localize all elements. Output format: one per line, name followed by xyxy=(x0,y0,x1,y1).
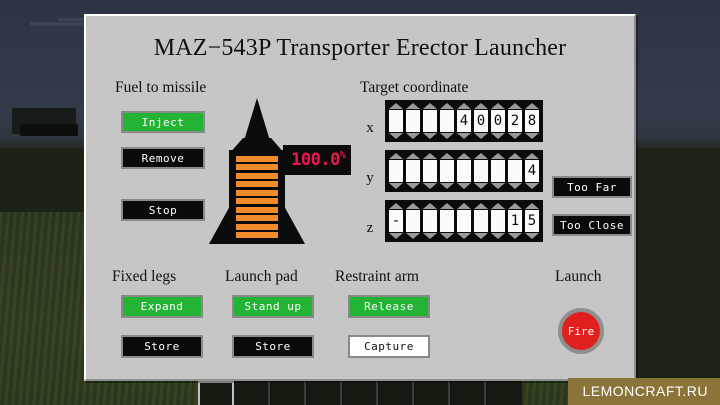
triangle-up-icon[interactable] xyxy=(525,203,539,209)
triangle-up-icon[interactable] xyxy=(423,103,437,109)
digit-value[interactable] xyxy=(491,160,505,182)
digit-cell-x-5[interactable]: 0 xyxy=(473,103,489,139)
triangle-down-icon[interactable] xyxy=(474,183,488,189)
pad-store-button[interactable]: Store xyxy=(232,335,314,358)
triangle-down-icon[interactable] xyxy=(525,133,539,139)
triangle-down-icon[interactable] xyxy=(474,233,488,239)
triangle-down-icon[interactable] xyxy=(457,183,471,189)
digit-cell-z-2[interactable] xyxy=(422,203,438,239)
digit-value[interactable]: 5 xyxy=(525,210,539,232)
digit-value[interactable] xyxy=(389,110,403,132)
triangle-down-icon[interactable] xyxy=(389,183,403,189)
hotbar-slot[interactable] xyxy=(342,381,378,405)
section-label-restraint-arm: Restraint arm xyxy=(335,268,419,286)
coordinate-row-y[interactable]: 4 xyxy=(385,150,543,192)
watermark: LEMONCRAFT.RU xyxy=(568,378,720,405)
triangle-down-icon[interactable] xyxy=(406,183,420,189)
triangle-down-icon[interactable] xyxy=(389,133,403,139)
digit-value[interactable] xyxy=(440,160,454,182)
triangle-up-icon[interactable] xyxy=(508,153,522,159)
fuel-percent-display: 100.0 % xyxy=(283,145,351,175)
digit-value[interactable]: 2 xyxy=(508,110,522,132)
digit-value[interactable]: 1 xyxy=(508,210,522,232)
triangle-down-icon[interactable] xyxy=(491,133,505,139)
hotbar-slot[interactable] xyxy=(486,381,522,405)
digit-value[interactable] xyxy=(457,160,471,182)
hotbar-slot[interactable] xyxy=(270,381,306,405)
digit-cell-z-5[interactable] xyxy=(473,203,489,239)
digit-value[interactable] xyxy=(423,210,437,232)
terrain-structure-shadow xyxy=(20,124,78,136)
arm-capture-button[interactable]: Capture xyxy=(348,335,430,358)
triangle-up-icon[interactable] xyxy=(491,203,505,209)
hotbar-slot[interactable] xyxy=(450,381,486,405)
missile-nose-cone xyxy=(243,98,271,144)
digit-value[interactable] xyxy=(423,110,437,132)
fuel-bar-segment xyxy=(236,198,278,204)
digit-cell-y-3[interactable] xyxy=(439,153,455,189)
digit-value[interactable] xyxy=(389,160,403,182)
fuel-percent-value: 100.0 xyxy=(291,152,340,169)
triangle-up-icon[interactable] xyxy=(474,203,488,209)
triangle-up-icon[interactable] xyxy=(389,103,403,109)
hotbar-slot[interactable] xyxy=(198,381,234,405)
triangle-up-icon[interactable] xyxy=(440,153,454,159)
triangle-down-icon[interactable] xyxy=(474,133,488,139)
fire-button[interactable]: Fire xyxy=(558,308,604,354)
digit-cell-y-5[interactable] xyxy=(473,153,489,189)
hotbar-slot[interactable] xyxy=(234,381,270,405)
triangle-up-icon[interactable] xyxy=(457,103,471,109)
digit-cell-z-3[interactable] xyxy=(439,203,455,239)
inject-fuel-button[interactable]: Inject xyxy=(121,111,205,133)
digit-value[interactable] xyxy=(474,160,488,182)
fuel-bar-segment xyxy=(236,224,278,230)
axis-label-y: y xyxy=(363,170,377,187)
digit-cell-z-8[interactable]: 5 xyxy=(524,203,540,239)
coordinate-row-z[interactable]: -15 xyxy=(385,200,543,242)
fuel-level-gauge xyxy=(236,156,278,238)
triangle-up-icon[interactable] xyxy=(474,153,488,159)
triangle-down-icon[interactable] xyxy=(491,183,505,189)
triangle-up-icon[interactable] xyxy=(491,103,505,109)
too-close-button[interactable]: Too Close xyxy=(552,214,632,236)
fuel-bar-segment xyxy=(236,207,278,213)
digit-value[interactable] xyxy=(406,160,420,182)
digit-cell-x-0[interactable] xyxy=(388,103,404,139)
triangle-up-icon[interactable] xyxy=(423,203,437,209)
hotbar-slot[interactable] xyxy=(378,381,414,405)
hotbar-slot[interactable] xyxy=(306,381,342,405)
axis-label-x: x xyxy=(363,120,377,137)
terrain-right xyxy=(630,150,720,405)
digit-cell-x-8[interactable]: 8 xyxy=(524,103,540,139)
triangle-down-icon[interactable] xyxy=(508,183,522,189)
digit-cell-x-4[interactable]: 4 xyxy=(456,103,472,139)
digit-cell-y-0[interactable] xyxy=(388,153,404,189)
triangle-up-icon[interactable] xyxy=(525,153,539,159)
triangle-up-icon[interactable] xyxy=(457,203,471,209)
digit-cell-z-1[interactable] xyxy=(405,203,421,239)
triangle-up-icon[interactable] xyxy=(440,203,454,209)
fuel-bar-segment xyxy=(236,164,278,170)
remove-fuel-button[interactable]: Remove xyxy=(121,147,205,169)
digit-value[interactable] xyxy=(457,210,471,232)
triangle-up-icon[interactable] xyxy=(406,153,420,159)
triangle-down-icon[interactable] xyxy=(491,233,505,239)
digit-cell-x-6[interactable]: 0 xyxy=(490,103,506,139)
triangle-down-icon[interactable] xyxy=(525,233,539,239)
digit-value[interactable]: 4 xyxy=(457,110,471,132)
digit-cell-y-4[interactable] xyxy=(456,153,472,189)
digit-value[interactable] xyxy=(406,110,420,132)
digit-cell-z-0[interactable]: - xyxy=(388,203,404,239)
triangle-up-icon[interactable] xyxy=(406,203,420,209)
digit-cell-z-7[interactable]: 1 xyxy=(507,203,523,239)
page-title: MAZ−543P Transporter Erector Launcher xyxy=(86,35,634,62)
digit-value[interactable] xyxy=(440,210,454,232)
fuel-bar-segment xyxy=(236,156,278,162)
section-label-launch-pad: Launch pad xyxy=(225,268,298,286)
digit-value[interactable] xyxy=(474,210,488,232)
hotbar-slot[interactable] xyxy=(414,381,450,405)
digit-cell-y-8[interactable]: 4 xyxy=(524,153,540,189)
section-label-fixed-legs: Fixed legs xyxy=(112,268,176,286)
fuel-bar-segment xyxy=(236,215,278,221)
section-label-target: Target coordinate xyxy=(360,79,468,97)
triangle-up-icon[interactable] xyxy=(389,153,403,159)
digit-cell-z-4[interactable] xyxy=(456,203,472,239)
triangle-up-icon[interactable] xyxy=(508,203,522,209)
triangle-down-icon[interactable] xyxy=(423,183,437,189)
fuel-bar-segment xyxy=(236,232,278,238)
digit-cell-y-1[interactable] xyxy=(405,153,421,189)
fuel-bar-segment xyxy=(236,190,278,196)
missile-fin-left xyxy=(209,204,231,244)
game-screen: MAZ−543P Transporter Erector Launcher Fu… xyxy=(0,0,720,405)
digit-cell-x-2[interactable] xyxy=(422,103,438,139)
triangle-down-icon[interactable] xyxy=(457,133,471,139)
digit-value[interactable] xyxy=(508,160,522,182)
digit-cell-y-7[interactable] xyxy=(507,153,523,189)
triangle-down-icon[interactable] xyxy=(457,233,471,239)
digit-cell-y-6[interactable] xyxy=(490,153,506,189)
triangle-up-icon[interactable] xyxy=(440,103,454,109)
digit-cell-x-1[interactable] xyxy=(405,103,421,139)
digit-value[interactable]: - xyxy=(389,210,403,232)
triangle-up-icon[interactable] xyxy=(491,153,505,159)
triangle-up-icon[interactable] xyxy=(457,153,471,159)
digit-cell-z-6[interactable] xyxy=(490,203,506,239)
triangle-up-icon[interactable] xyxy=(525,103,539,109)
digit-value[interactable] xyxy=(406,210,420,232)
digit-value[interactable]: 4 xyxy=(525,160,539,182)
legs-store-button[interactable]: Store xyxy=(121,335,203,358)
triangle-down-icon[interactable] xyxy=(525,183,539,189)
triangle-down-icon[interactable] xyxy=(440,233,454,239)
fuel-bar-segment xyxy=(236,181,278,187)
digit-cell-x-3[interactable] xyxy=(439,103,455,139)
digit-value[interactable]: 0 xyxy=(491,110,505,132)
triangle-down-icon[interactable] xyxy=(423,233,437,239)
digit-cell-x-7[interactable]: 2 xyxy=(507,103,523,139)
triangle-down-icon[interactable] xyxy=(508,133,522,139)
triangle-down-icon[interactable] xyxy=(440,133,454,139)
triangle-down-icon[interactable] xyxy=(406,133,420,139)
triangle-up-icon[interactable] xyxy=(406,103,420,109)
fuel-bar-segment xyxy=(236,173,278,179)
hotbar[interactable] xyxy=(198,379,522,405)
arm-release-button[interactable]: Release xyxy=(348,295,430,318)
triangle-up-icon[interactable] xyxy=(389,203,403,209)
triangle-up-icon[interactable] xyxy=(474,103,488,109)
too-far-button[interactable]: Too Far xyxy=(552,176,632,198)
launcher-control-panel: MAZ−543P Transporter Erector Launcher Fu… xyxy=(84,14,636,381)
triangle-up-icon[interactable] xyxy=(508,103,522,109)
triangle-down-icon[interactable] xyxy=(423,133,437,139)
digit-cell-y-2[interactable] xyxy=(422,153,438,189)
axis-label-z: z xyxy=(363,220,377,237)
digit-value[interactable]: 8 xyxy=(525,110,539,132)
digit-value[interactable] xyxy=(491,210,505,232)
section-label-launch: Launch xyxy=(555,268,601,286)
triangle-down-icon[interactable] xyxy=(406,233,420,239)
fuel-percent-unit: % xyxy=(340,150,346,161)
triangle-down-icon[interactable] xyxy=(508,233,522,239)
missile-fin-right xyxy=(283,204,305,244)
coordinate-row-x[interactable]: 40028 xyxy=(385,100,543,142)
digit-value[interactable] xyxy=(440,110,454,132)
pad-stand-up-button[interactable]: Stand up xyxy=(232,295,314,318)
triangle-down-icon[interactable] xyxy=(440,183,454,189)
triangle-up-icon[interactable] xyxy=(423,153,437,159)
digit-value[interactable]: 0 xyxy=(474,110,488,132)
triangle-down-icon[interactable] xyxy=(389,233,403,239)
section-label-fuel: Fuel to missile xyxy=(115,79,206,97)
stop-fuel-button[interactable]: Stop xyxy=(121,199,205,221)
digit-value[interactable] xyxy=(423,160,437,182)
legs-expand-button[interactable]: Expand xyxy=(121,295,203,318)
